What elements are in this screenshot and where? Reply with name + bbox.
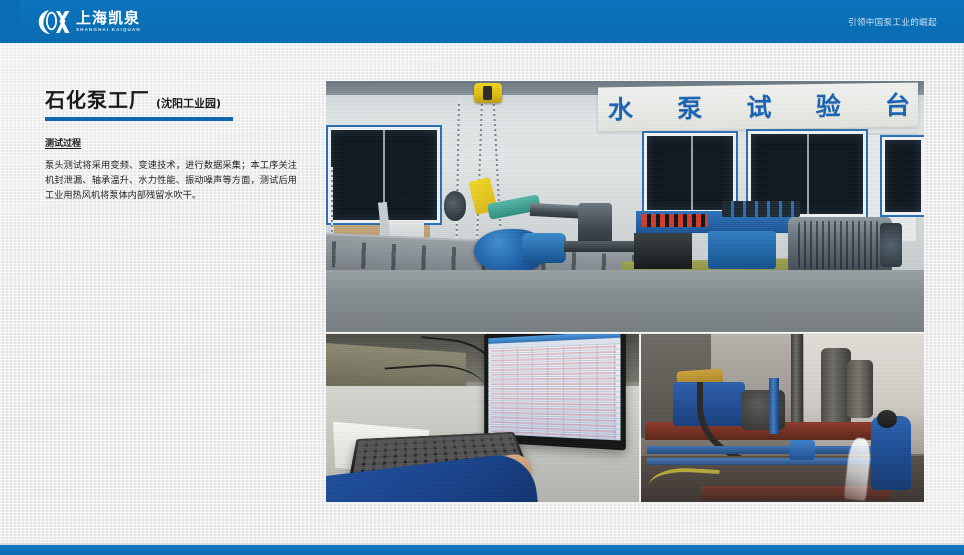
left-text-column: 石化泵工厂 (沈阳工业园) 测试过程 泵头测试将采用变频、变速技术，进行数据采集…	[45, 84, 303, 203]
banner-char-2: 泵	[677, 89, 702, 125]
photo-vertical-pipe	[791, 334, 803, 430]
kaiquan-logo-icon	[36, 8, 70, 36]
banner-char-1: 水	[608, 90, 633, 126]
photo-ground	[326, 270, 924, 332]
page-footer-bar	[0, 545, 964, 555]
photo-data-acquisition-station	[326, 334, 639, 502]
photo-screen-data-rows	[491, 345, 617, 438]
photo-motor-fan-cover	[880, 223, 902, 267]
page-header: 上海凯泉 SHANGHAI KAIQUAN 引领中国泵工业的崛起	[0, 0, 964, 43]
photo-pipe-flange	[789, 440, 815, 460]
brand-name-en: SHANGHAI KAIQUAN	[76, 28, 141, 33]
section-heading: 测试过程	[45, 136, 81, 149]
page-title: 石化泵工厂 (沈阳工业园)	[45, 84, 303, 113]
photo-banner-text: 水 泵 试 验 台	[608, 86, 910, 127]
photo-window	[882, 137, 924, 215]
photo-drive-shaft	[564, 241, 638, 252]
photo-chain-hoist	[474, 83, 502, 103]
photo-collage: 水 泵 试 验 台	[326, 81, 924, 502]
header-accent-block	[0, 0, 20, 43]
page-title-main: 石化泵工厂	[45, 84, 150, 113]
photo-monitor-screen	[488, 334, 620, 440]
photo-coupling-guard	[634, 233, 692, 269]
photo-pump-casing	[522, 233, 566, 263]
banner-char-3: 试	[746, 88, 771, 124]
photo-pump-test-bench: 水 泵 试 验 台	[326, 81, 924, 332]
photo-skid-test-rig	[641, 334, 924, 502]
page-title-sub: (沈阳工业园)	[156, 95, 221, 111]
photo-flange	[444, 191, 466, 221]
photo-pressure-vessel	[847, 360, 873, 418]
photo-worker-head	[877, 410, 897, 428]
photo-control-panel	[722, 201, 800, 217]
banner-char-4: 验	[816, 87, 841, 123]
photo-bearing-housing	[708, 231, 776, 269]
title-underline-rule	[45, 117, 233, 121]
photo-indicator-lights	[642, 214, 708, 227]
section-body-text: 泵头测试将采用变频、变速技术，进行数据采集；本工序关注机封泄漏、轴承温升、水力性…	[45, 158, 297, 203]
header-slogan: 引领中国泵工业的崛起	[848, 0, 937, 43]
brand-logo[interactable]: 上海凯泉 SHANGHAI KAIQUAN	[36, 7, 141, 37]
brand-name-cn: 上海凯泉	[76, 11, 141, 26]
brand-logo-text: 上海凯泉 SHANGHAI KAIQUAN	[76, 11, 141, 33]
photo-blue-pipe	[647, 446, 883, 454]
banner-char-5: 台	[885, 86, 910, 122]
photo-motor-fins	[798, 221, 880, 269]
